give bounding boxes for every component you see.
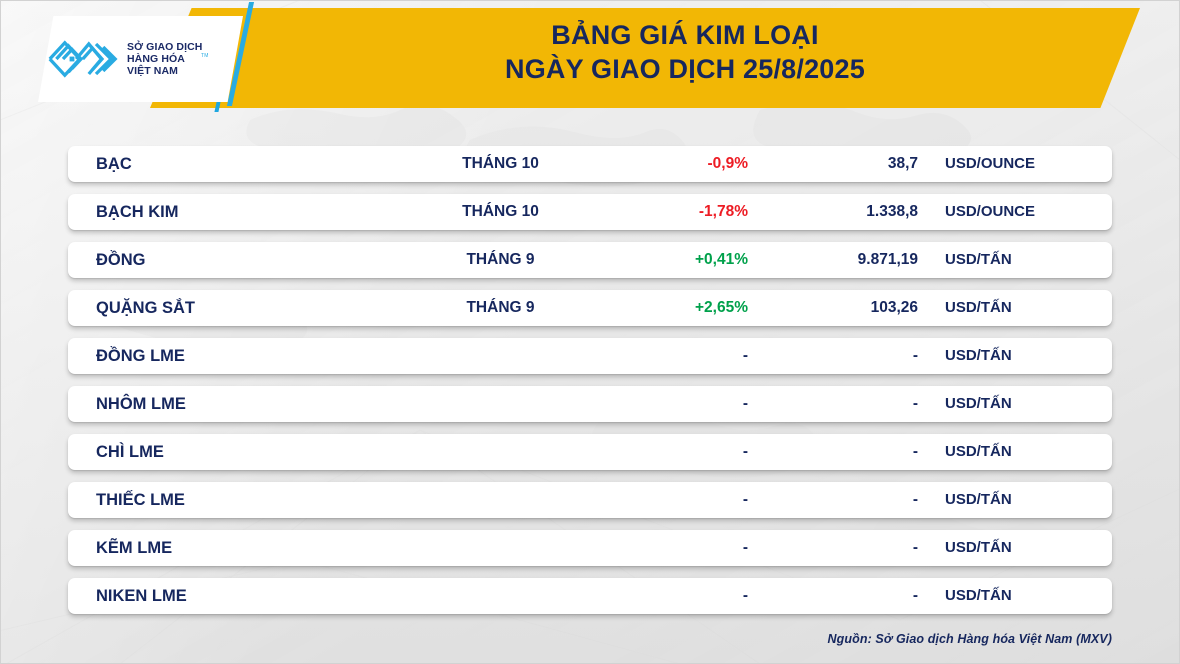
price-unit: USD/TẤN xyxy=(945,338,1012,374)
table-row[interactable]: ĐỒNG LME--USD/TẤN xyxy=(68,338,1112,374)
price-unit: USD/TẤN xyxy=(945,434,1012,470)
price-unit: USD/TẤN xyxy=(945,482,1012,518)
price-unit: USD/OUNCE xyxy=(945,146,1035,182)
price-value: - xyxy=(758,434,918,470)
commodity-name: KẼM LME xyxy=(96,530,172,566)
commodity-name: BẠCH KIM xyxy=(96,194,179,230)
page-title: BẢNG GIÁ KIM LOẠI NGÀY GIAO DỊCH 25/8/20… xyxy=(250,18,1120,86)
price-value: - xyxy=(758,386,918,422)
page-title-line-2: NGÀY GIAO DỊCH 25/8/2025 xyxy=(250,52,1120,86)
change-percent: - xyxy=(588,482,748,518)
price-unit: USD/TẤN xyxy=(945,242,1012,278)
commodity-name: ĐỒNG xyxy=(96,242,146,278)
change-percent: +0,41% xyxy=(588,242,748,278)
change-percent: +2,65% xyxy=(588,290,748,326)
logo-line-1: SỞ GIAO DỊCH xyxy=(127,41,203,53)
change-percent: - xyxy=(588,338,748,374)
price-unit: USD/TẤN xyxy=(945,290,1012,326)
table-row[interactable]: QUẶNG SẮTTHÁNG 9+2,65%103,26USD/TẤN xyxy=(68,290,1112,326)
price-value: 38,7 xyxy=(758,146,918,182)
table-row[interactable]: BẠCH KIMTHÁNG 10-1,78%1.338,8USD/OUNCE xyxy=(68,194,1112,230)
change-percent: -0,9% xyxy=(588,146,748,182)
change-percent: - xyxy=(588,578,748,614)
price-value: - xyxy=(758,530,918,566)
table-row[interactable]: BẠCTHÁNG 10-0,9%38,7USD/OUNCE xyxy=(68,146,1112,182)
table-row[interactable]: NHÔM LME--USD/TẤN xyxy=(68,386,1112,422)
commodity-name: NHÔM LME xyxy=(96,386,186,422)
price-value: - xyxy=(758,482,918,518)
commodity-name: QUẶNG SẮT xyxy=(96,290,195,326)
logo[interactable]: TM SỞ GIAO DỊCH HÀNG HÓA VIỆT NAM xyxy=(48,22,238,96)
change-percent: - xyxy=(588,434,748,470)
source-note: Nguồn: Sở Giao dịch Hàng hóa Việt Nam (M… xyxy=(828,632,1112,646)
logo-line-3: VIỆT NAM xyxy=(127,65,203,77)
price-value: - xyxy=(758,338,918,374)
commodity-name: BẠC xyxy=(96,146,132,182)
price-value: 9.871,19 xyxy=(758,242,918,278)
page-header: TM SỞ GIAO DỊCH HÀNG HÓA VIỆT NAM BẢNG G… xyxy=(0,0,1180,118)
commodity-name: ĐỒNG LME xyxy=(96,338,185,374)
price-value: 1.338,8 xyxy=(758,194,918,230)
table-row[interactable]: NIKEN LME--USD/TẤN xyxy=(68,578,1112,614)
price-unit: USD/OUNCE xyxy=(945,194,1035,230)
table-row[interactable]: CHÌ LME--USD/TẤN xyxy=(68,434,1112,470)
trademark-symbol: TM xyxy=(201,53,209,59)
change-percent: -1,78% xyxy=(588,194,748,230)
commodity-name: CHÌ LME xyxy=(96,434,164,470)
page-title-line-1: BẢNG GIÁ KIM LOẠI xyxy=(250,18,1120,52)
mxv-maze-logo-icon xyxy=(48,36,120,82)
price-board-page: TM SỞ GIAO DỊCH HÀNG HÓA VIỆT NAM BẢNG G… xyxy=(0,0,1180,664)
commodity-name: NIKEN LME xyxy=(96,578,187,614)
price-table: BẠCTHÁNG 10-0,9%38,7USD/OUNCEBẠCH KIMTHÁ… xyxy=(68,146,1112,626)
change-percent: - xyxy=(588,530,748,566)
logo-line-2: HÀNG HÓA xyxy=(127,53,203,65)
price-unit: USD/TẤN xyxy=(945,578,1012,614)
price-value: 103,26 xyxy=(758,290,918,326)
commodity-name: THIẾC LME xyxy=(96,482,185,518)
price-unit: USD/TẤN xyxy=(945,530,1012,566)
change-percent: - xyxy=(588,386,748,422)
price-value: - xyxy=(758,578,918,614)
table-row[interactable]: THIẾC LME--USD/TẤN xyxy=(68,482,1112,518)
table-row[interactable]: KẼM LME--USD/TẤN xyxy=(68,530,1112,566)
table-row[interactable]: ĐỒNGTHÁNG 9+0,41%9.871,19USD/TẤN xyxy=(68,242,1112,278)
price-unit: USD/TẤN xyxy=(945,386,1012,422)
